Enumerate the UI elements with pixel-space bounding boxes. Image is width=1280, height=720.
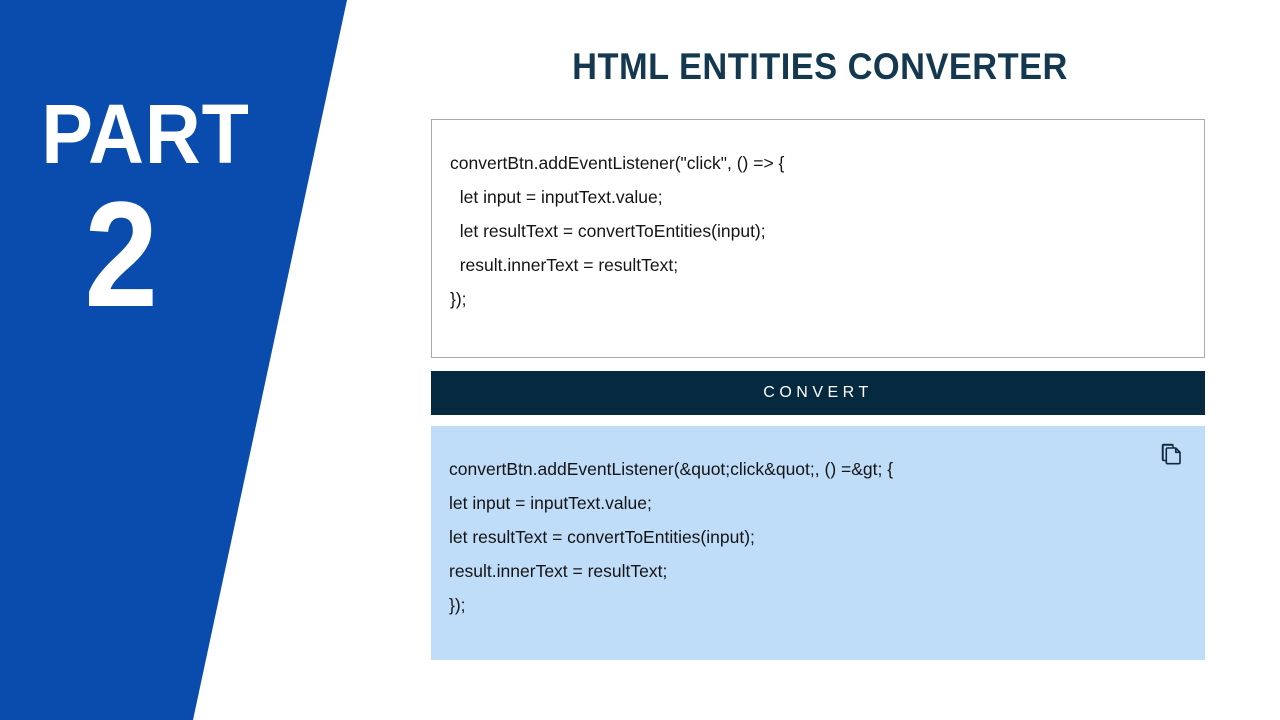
code-input-line: convertBtn.addEventListener("click", () …	[450, 146, 1186, 180]
convert-button[interactable]: CONVERT	[431, 371, 1205, 415]
code-input-textarea[interactable]: convertBtn.addEventListener("click", () …	[431, 119, 1205, 358]
output-result-panel: convertBtn.addEventListener(&quot;click&…	[431, 426, 1205, 660]
code-input-line: result.innerText = resultText;	[450, 248, 1186, 282]
output-line: });	[449, 588, 1187, 622]
code-input-line: });	[450, 282, 1186, 316]
code-input-line: let resultText = convertToEntities(input…	[450, 214, 1186, 248]
page-title: HTML ENTITIES CONVERTER	[457, 46, 1182, 88]
copy-icon	[1157, 438, 1187, 468]
app-root: PART 2 HTML ENTITIES CONVERTER convertBt…	[0, 0, 1280, 720]
copy-button[interactable]	[1157, 438, 1187, 468]
converter-panel: HTML ENTITIES CONVERTER convertBtn.addEv…	[360, 0, 1280, 720]
output-line: let input = inputText.value;	[449, 486, 1187, 520]
output-line: let resultText = convertToEntities(input…	[449, 520, 1187, 554]
code-input-line: let input = inputText.value;	[450, 180, 1186, 214]
part-number: 2	[0, 179, 255, 329]
output-line: result.innerText = resultText;	[449, 554, 1187, 588]
part-banner: PART 2	[0, 0, 360, 720]
output-line: convertBtn.addEventListener(&quot;click&…	[449, 452, 1187, 486]
part-banner-text: PART 2	[0, 96, 290, 329]
part-label: PART	[0, 96, 267, 173]
